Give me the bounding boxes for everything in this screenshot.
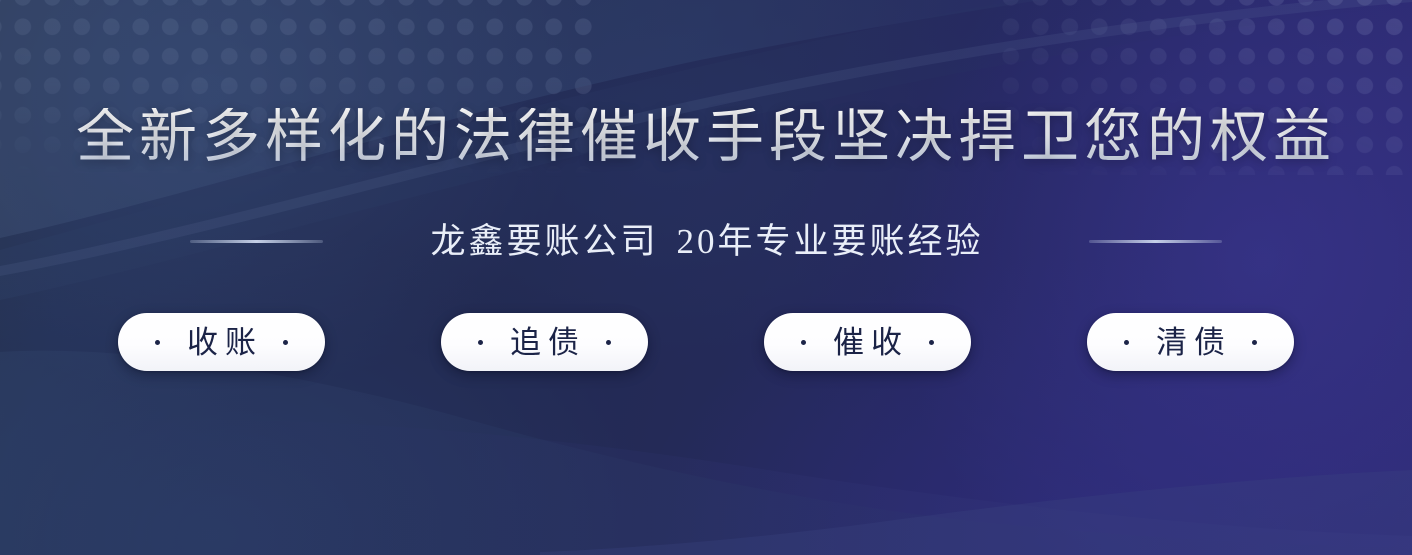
subtitle-company: 龙鑫要账公司 [430,222,658,261]
service-tag-label: 清债 [1149,327,1232,358]
bullet-dot-icon [478,340,483,345]
bullet-dot-icon [1252,340,1257,345]
service-tag-shouzhang[interactable]: 收账 [118,313,325,371]
divider-line-left [190,240,323,243]
bullet-dot-icon [155,340,160,345]
bullet-dot-icon [606,340,611,345]
service-tag-label: 催收 [826,327,909,358]
subtitle: 龙鑫要账公司20年专业要账经验 [430,224,983,259]
bullet-dot-icon [801,340,806,345]
service-tag-label: 收账 [180,327,263,358]
service-tag-cuishou[interactable]: 催收 [764,313,971,371]
promo-banner: 全新多样化的法律催收手段坚决捍卫您的权益 龙鑫要账公司20年专业要账经验 收账 … [0,0,1412,555]
service-tag-label: 追债 [503,327,586,358]
service-tag-qingzhai[interactable]: 清债 [1087,313,1294,371]
service-tag-zhuizhai[interactable]: 追债 [441,313,648,371]
subtitle-row: 龙鑫要账公司20年专业要账经验 [190,224,1221,259]
page-title: 全新多样化的法律催收手段坚决捍卫您的权益 [76,108,1336,166]
banner-content: 全新多样化的法律催收手段坚决捍卫您的权益 龙鑫要账公司20年专业要账经验 收账 … [0,0,1412,555]
service-tag-list: 收账 追债 催收 清债 [118,313,1294,371]
bullet-dot-icon [283,340,288,345]
bullet-dot-icon [929,340,934,345]
divider-line-right [1089,240,1222,243]
subtitle-experience: 20年专业要账经验 [677,222,984,261]
bullet-dot-icon [1124,340,1129,345]
